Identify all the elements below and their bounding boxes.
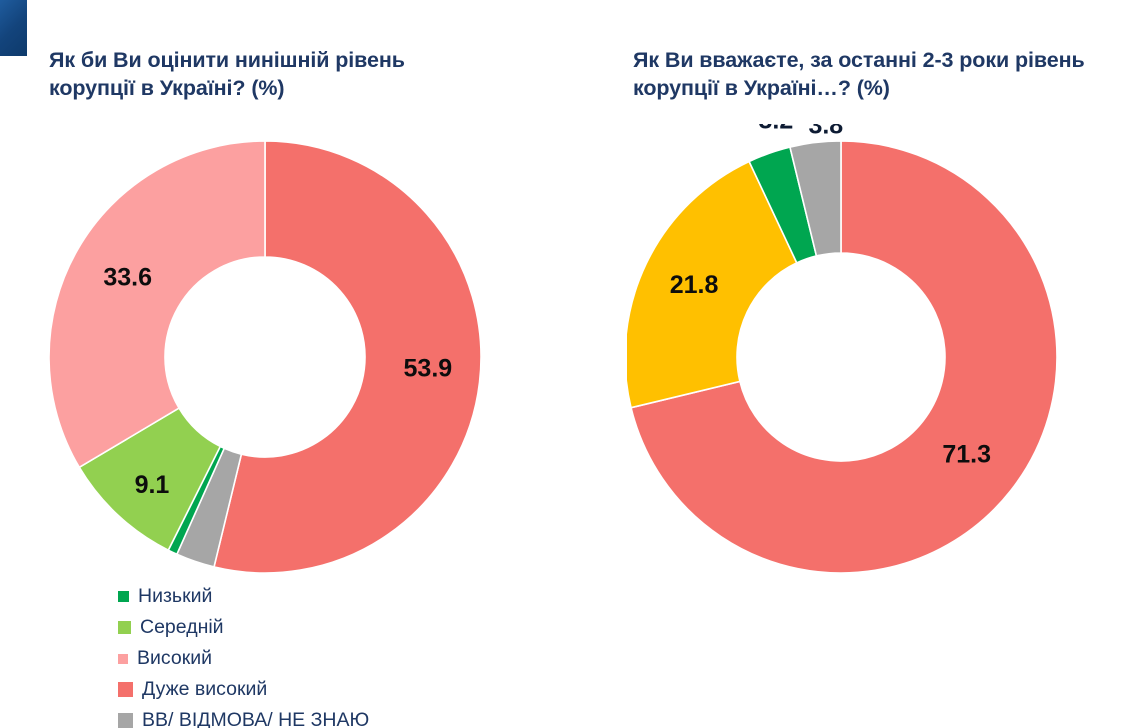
legend-item[interactable]: Середній — [118, 612, 369, 643]
donut-chart-right: 71.321.83.23.8 — [627, 124, 1127, 594]
legend-item[interactable]: Низький — [118, 581, 369, 612]
legend-item[interactable]: Дуже високий — [118, 674, 369, 705]
page-title-right: Як Ви вважаєте, за останні 2-3 роки ріве… — [633, 46, 1123, 103]
slice-value-label: 71.3 — [942, 441, 991, 469]
legend-item-label: Високий — [137, 649, 212, 669]
slice-value-label: 3.8 — [808, 124, 843, 139]
legend-swatch-icon — [118, 682, 133, 697]
legend-item[interactable]: Високий — [118, 643, 369, 674]
donut-chart-left: 53.92.90.79.133.6 — [18, 124, 518, 594]
legend-item-label: ВВ/ ВІДМОВА/ НЕ ЗНАЮ — [142, 711, 369, 728]
legend-item-label: Низький — [138, 587, 212, 607]
legend-item-label: Середній — [140, 618, 224, 638]
legend-item-label: Дуже високий — [142, 680, 267, 700]
slice-value-label: 33.6 — [103, 263, 152, 291]
slide-canvas: Як би Ви оцінити нинішній рівень корупці… — [0, 0, 1142, 728]
slice-value-label: 53.9 — [404, 355, 453, 383]
slice-value-label: 21.8 — [670, 271, 719, 299]
legend-swatch-icon — [118, 591, 129, 602]
legend-swatch-icon — [118, 713, 133, 728]
donut-chart-right-svg: 71.321.83.23.8 — [627, 124, 1127, 594]
legend-swatch-icon — [118, 621, 131, 634]
donut-chart-left-svg: 53.92.90.79.133.6 — [18, 124, 518, 594]
slice-value-label: 3.2 — [759, 124, 794, 135]
legend-swatch-icon — [118, 654, 128, 664]
legend-left: НизькийСереднійВисокийДуже високийВВ/ ВІ… — [118, 581, 369, 728]
chart-panel-right: Як Ви вважаєте, за останні 2-3 роки ріве… — [571, 0, 1142, 728]
donut-slice[interactable] — [49, 141, 265, 467]
page-title-left: Як би Ви оцінити нинішній рівень корупці… — [49, 46, 519, 103]
chart-panel-left: Як би Ви оцінити нинішній рівень корупці… — [0, 0, 571, 728]
slice-value-label: 9.1 — [135, 471, 170, 499]
legend-item[interactable]: ВВ/ ВІДМОВА/ НЕ ЗНАЮ — [118, 705, 369, 728]
